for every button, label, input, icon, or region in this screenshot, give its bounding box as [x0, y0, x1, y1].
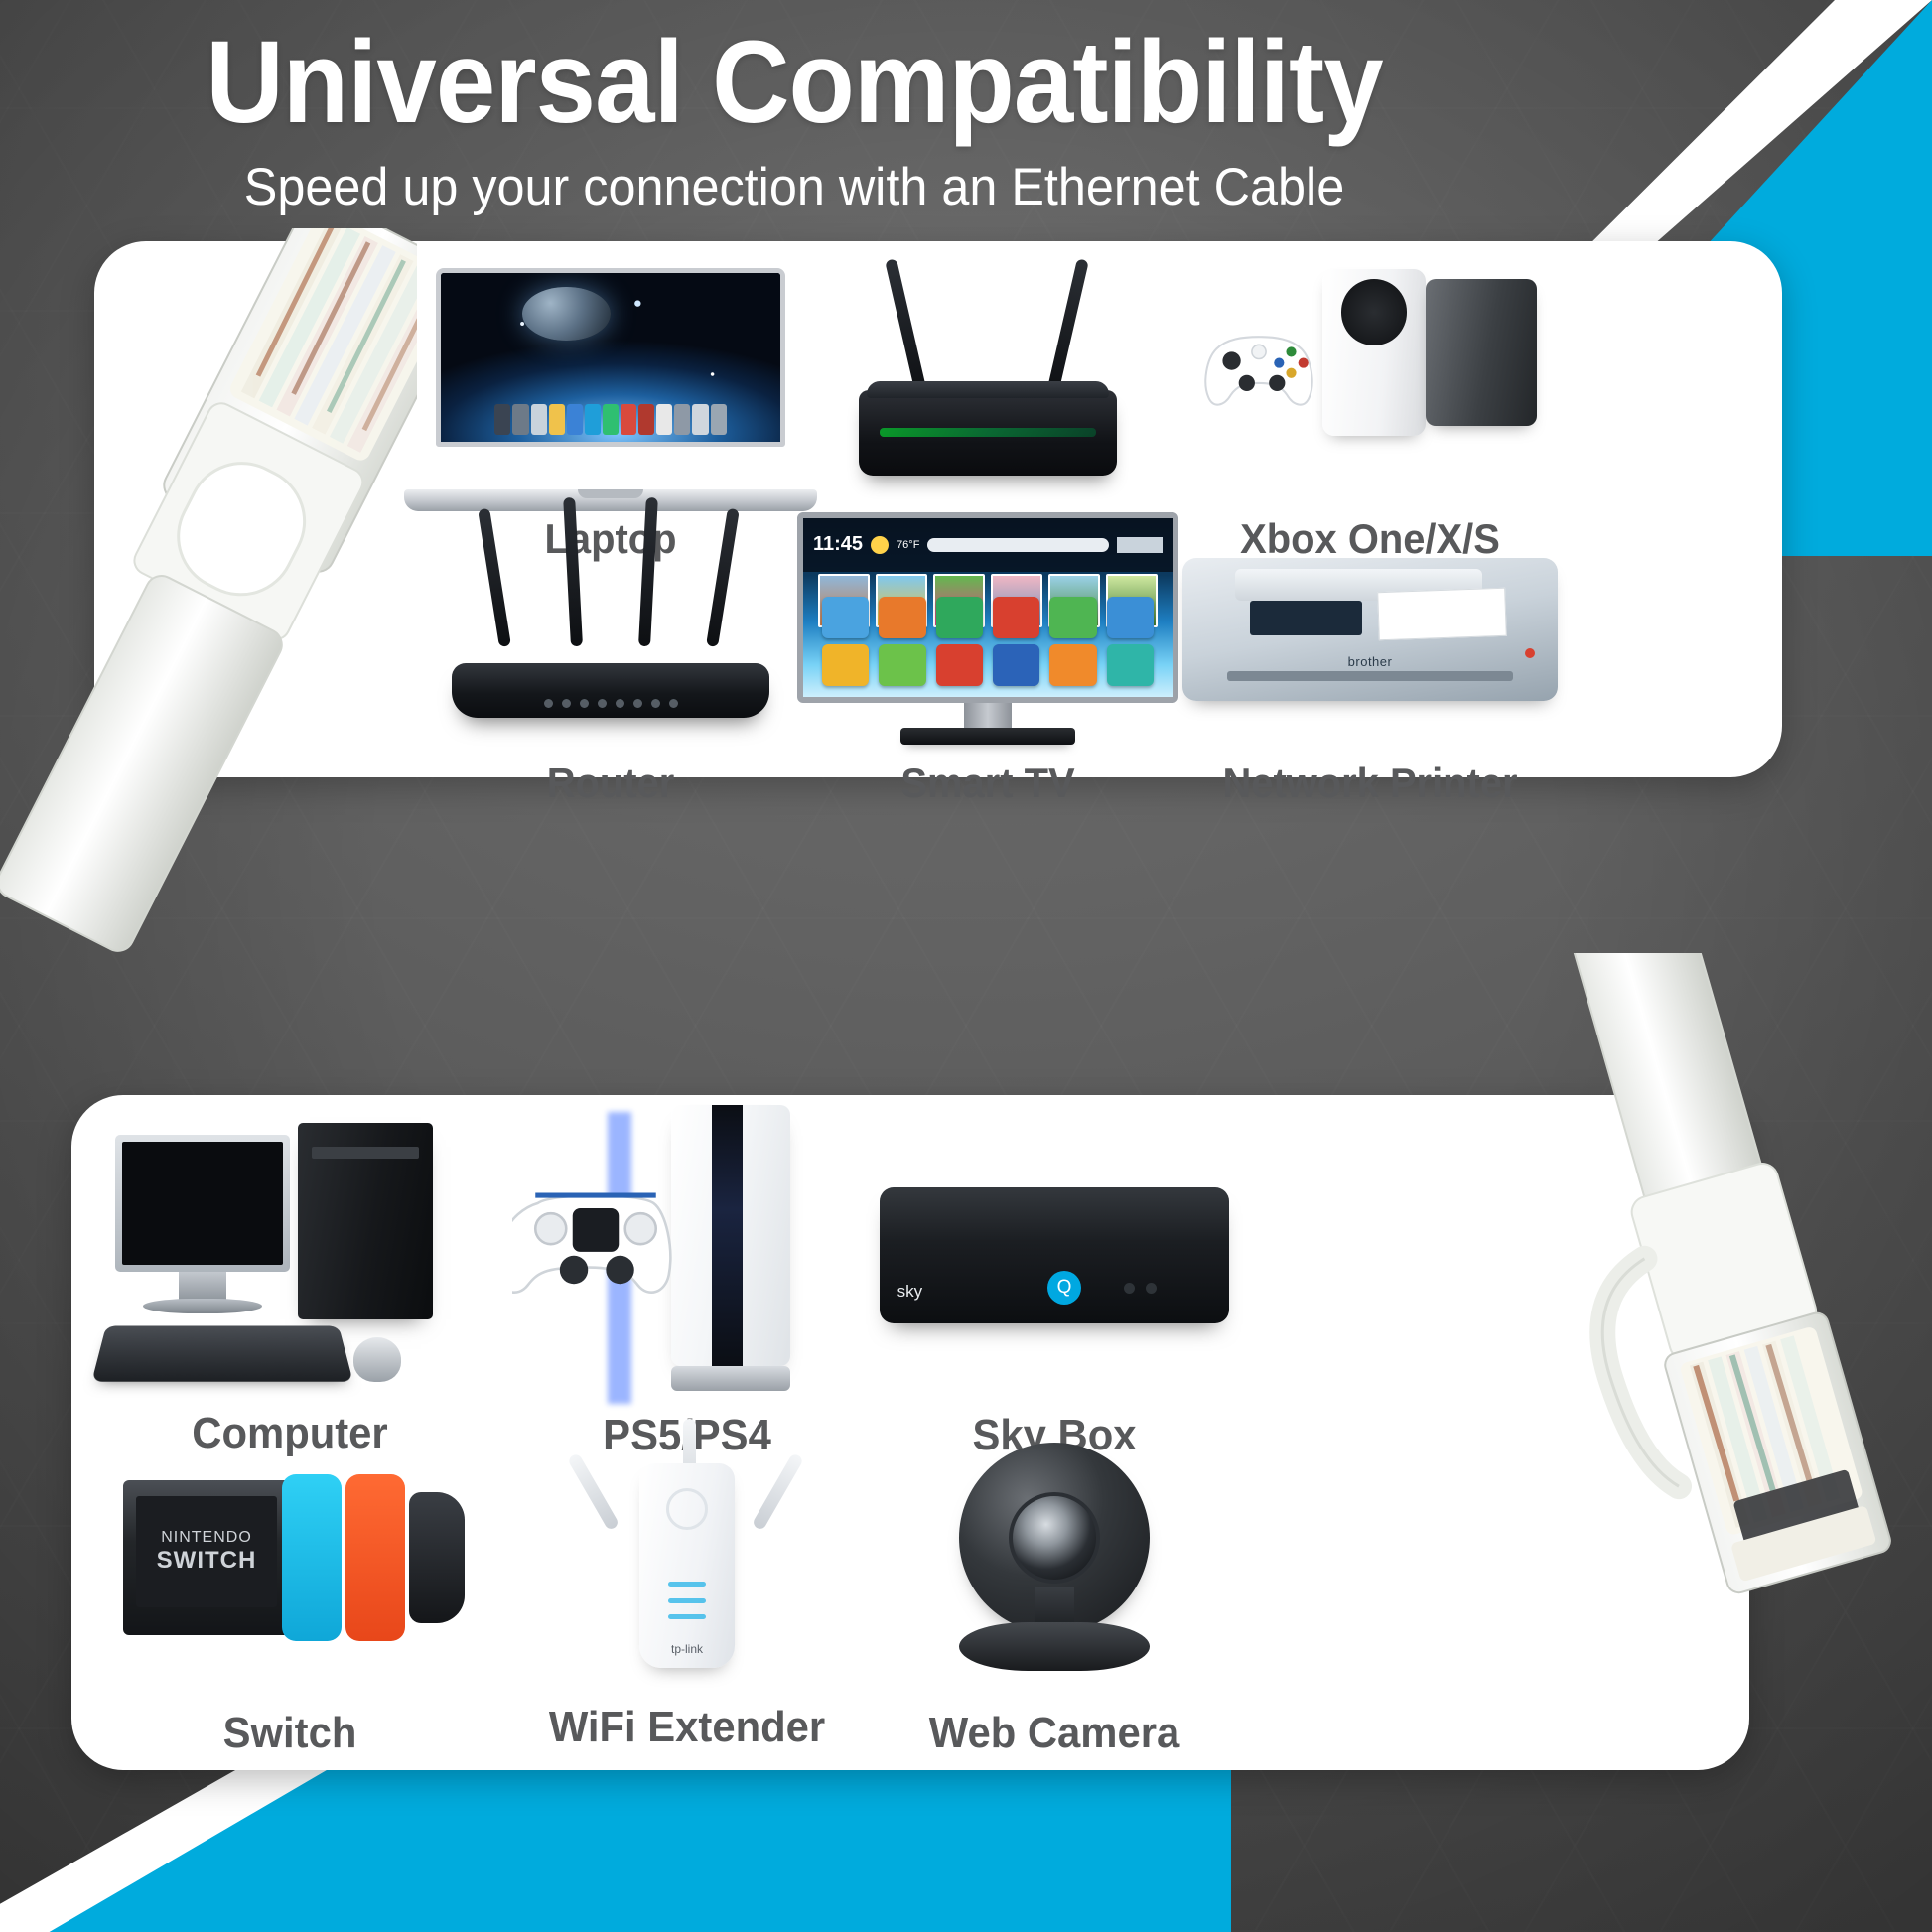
router-icon	[412, 509, 809, 758]
device-cell-router[interactable]: Router	[412, 509, 809, 758]
device-cell-smart-tv[interactable]: 11:45 76°F	[789, 507, 1186, 758]
xbox-console-icon	[1172, 259, 1569, 511]
wifi-extender-icon: tp-link	[488, 1393, 886, 1713]
bottom-compatibility-card: Computer	[71, 1095, 1749, 1770]
device-cell-wifi-extender[interactable]: tp-link WiFi Extender	[488, 1393, 886, 1713]
device-label: Network Printer	[1158, 759, 1583, 807]
switch-brand-line2: SWITCH	[157, 1547, 257, 1575]
sky-q-button[interactable]: Q	[1047, 1271, 1081, 1305]
sky-brand: sky	[897, 1282, 923, 1302]
header: Universal Compatibility Speed up your co…	[0, 0, 1588, 217]
xbox-controller-icon	[1179, 325, 1338, 426]
tv-clock: 11:45	[813, 533, 863, 556]
device-cell-laptop[interactable]: Laptop	[412, 263, 809, 511]
modem-icon	[809, 259, 1167, 511]
tv-app-grid	[822, 597, 1155, 686]
infographic-canvas: Universal Compatibility Speed up your co…	[0, 0, 1932, 1932]
device-cell-modem[interactable]: Modem	[809, 259, 1167, 511]
device-cell-nintendo-switch[interactable]: NINTENDO SWITCH Switch	[91, 1415, 488, 1713]
web-camera-icon	[856, 1413, 1253, 1713]
laptop-icon	[412, 263, 809, 511]
device-label: Smart TV	[799, 759, 1176, 807]
device-cell-playstation[interactable]: PS5/PS4	[488, 1099, 886, 1417]
device-label: WiFi Extender	[498, 1703, 876, 1752]
page-title: Universal Compatibility	[64, 24, 1525, 141]
top-card-device-grid: Laptop Modem	[94, 241, 1782, 777]
page-subtitle: Speed up your connection with an Etherne…	[40, 157, 1549, 217]
smart-tv-icon: 11:45 76°F	[789, 507, 1186, 758]
printer-icon: brother	[1147, 501, 1593, 758]
tv-search-bar[interactable]	[927, 538, 1109, 552]
device-cell-network-printer[interactable]: brother Network Printer	[1147, 501, 1593, 758]
device-label: Router	[422, 759, 799, 807]
tv-weather-sun-icon	[871, 536, 889, 554]
dualsense-controller-icon	[512, 1169, 679, 1314]
device-cell-sky-box[interactable]: sky Q Sky Box	[856, 1107, 1253, 1417]
top-compatibility-card: Laptop Modem	[94, 241, 1782, 777]
playstation-console-icon	[488, 1099, 886, 1417]
device-cell-computer[interactable]: Computer	[91, 1117, 488, 1415]
bottom-card-device-grid: Computer	[71, 1095, 1749, 1770]
tv-temperature: 76°F	[897, 539, 919, 551]
nintendo-switch-icon: NINTENDO SWITCH	[91, 1415, 488, 1713]
wifi-extender-brand: tp-link	[671, 1642, 703, 1656]
switch-brand-line1: NINTENDO	[161, 1529, 252, 1547]
device-label: Web Camera	[866, 1709, 1243, 1758]
printer-brand: brother	[1348, 654, 1393, 669]
desktop-computer-icon	[91, 1117, 488, 1415]
device-cell-web-camera[interactable]: Web Camera	[856, 1413, 1253, 1713]
sky-set-top-box-icon: sky Q	[856, 1107, 1253, 1417]
device-cell-xbox[interactable]: Xbox One/X/S	[1172, 259, 1569, 511]
device-label: Switch	[101, 1709, 479, 1758]
